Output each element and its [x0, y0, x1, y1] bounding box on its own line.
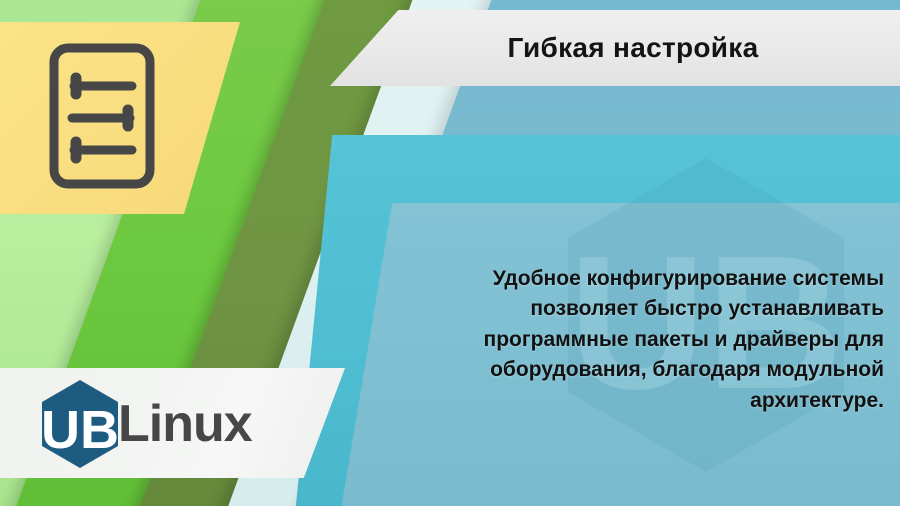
slide-canvas: UB Гибкая настройка Удобное конфигуриров… [0, 0, 900, 506]
body-paragraph: Удобное конфигурирование системы позволя… [418, 264, 884, 416]
logo-wordmark: Linux [118, 398, 252, 450]
sliders-settings-icon [48, 42, 156, 190]
brand-logo: UB Linux [38, 378, 252, 470]
page-title: Гибкая настройка [472, 32, 759, 64]
ub-mark-text: UB [41, 400, 119, 460]
ub-hexagon-icon: UB [38, 378, 122, 470]
title-panel: Гибкая настройка [330, 10, 900, 86]
